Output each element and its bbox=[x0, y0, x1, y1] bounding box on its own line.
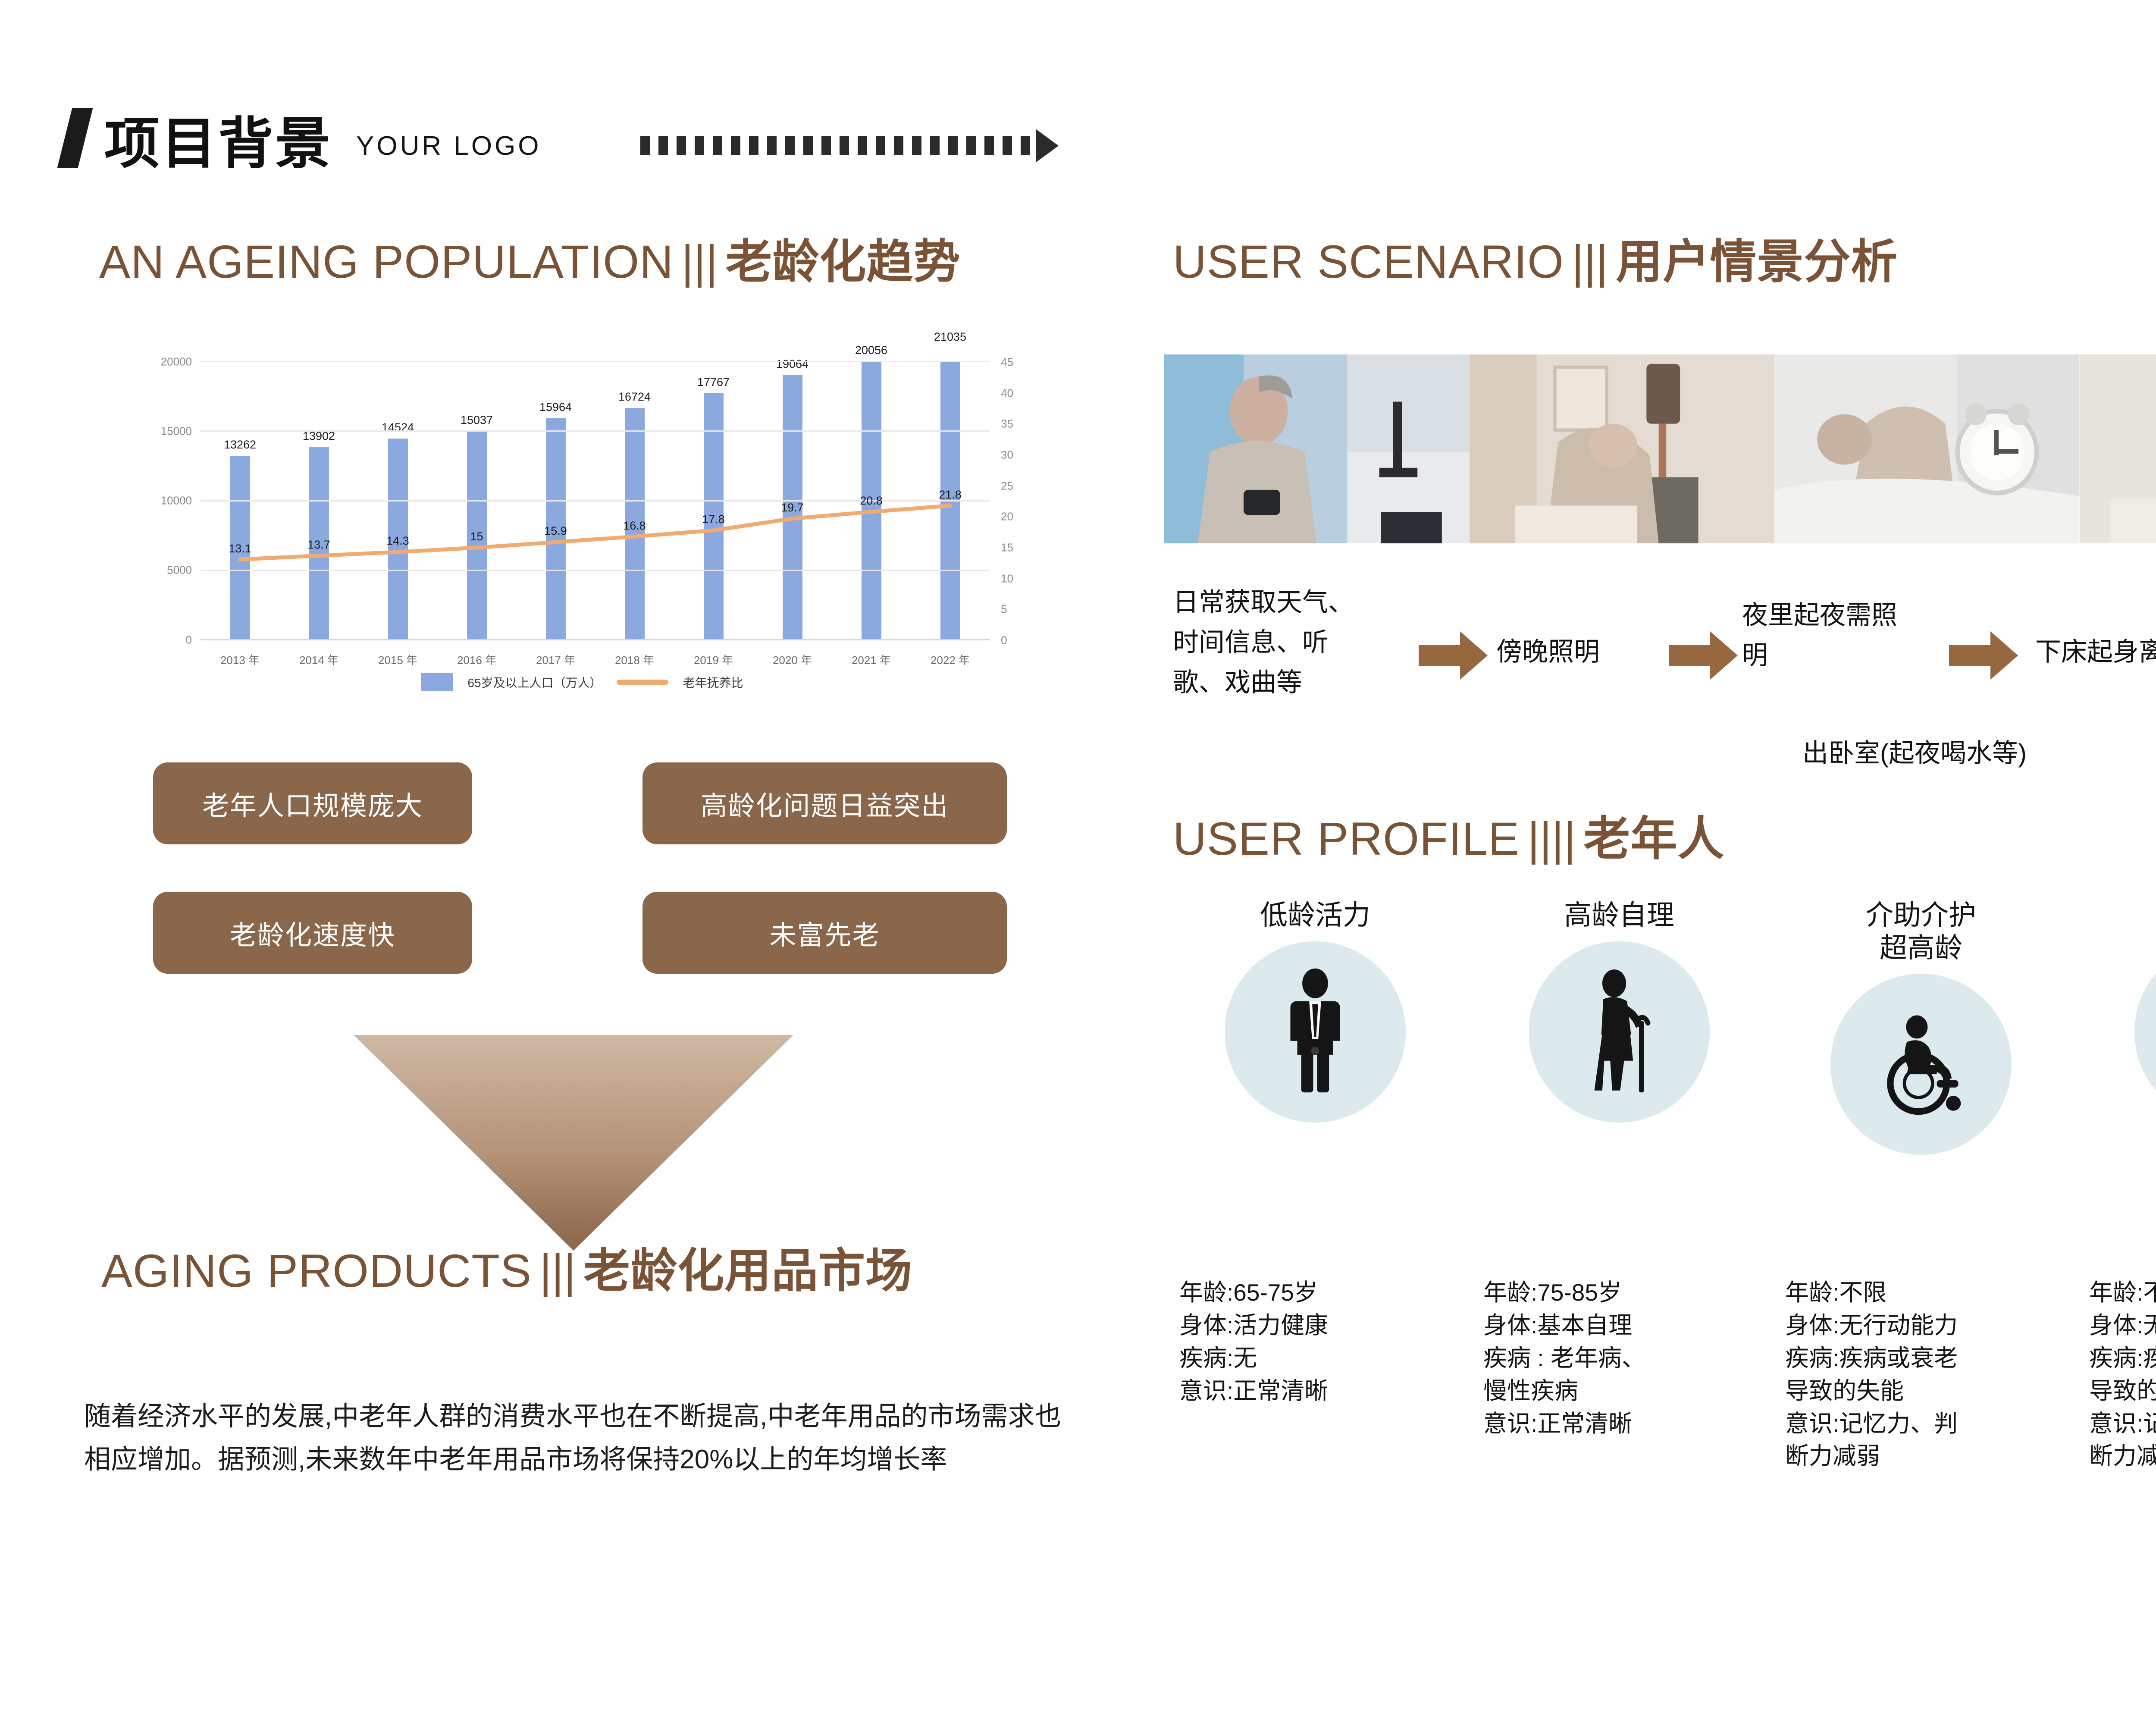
wheelchair-icon bbox=[1867, 1010, 1975, 1118]
photo-elderly-man-sitting-on-bed bbox=[2080, 354, 2156, 543]
pill-advanced-aging-problem[interactable]: 高龄化问题日益突出 bbox=[642, 762, 1007, 844]
man-with-cane-icon bbox=[1570, 967, 1669, 1097]
slide-root: 项目背景 YOUR LOGO AN AGEING POPULATION|||老龄… bbox=[0, 0, 2156, 1712]
page-title: 项目背景 bbox=[104, 116, 332, 172]
chart-line-value: 17.8 bbox=[702, 513, 725, 526]
section-title-profile-cn: 老年人 bbox=[1583, 812, 1724, 865]
chart-xtick: 2022 年 bbox=[931, 652, 970, 668]
chart-xtick: 2014 年 bbox=[299, 652, 338, 668]
chart-line-value: 13.1 bbox=[229, 542, 251, 555]
chart-line-value: 19.7 bbox=[781, 501, 804, 514]
chart-line-value: 16.8 bbox=[623, 519, 646, 533]
profile-details-low-age-vitality: 年龄:65-75岁 身体:活力健康 疾病:无 意识:正常清晰 bbox=[1179, 1276, 1455, 1408]
profile-card-disabled-elderly: 失能老人 bbox=[2074, 899, 2156, 1123]
section-divider-bars: ||| bbox=[1564, 235, 1616, 288]
profile-details-assisted-care: 年龄:不限 身体:无行动能力 疾病:疾病或衰老 导致的失能 意识:记忆力、判 断… bbox=[1785, 1276, 2061, 1473]
profile-details-high-age-self-care: 年龄:75-85岁 身体:基本自理 疾病 : 老年病、 慢性疾病 意识:正常清晰 bbox=[1483, 1276, 1759, 1440]
photo-elderly-man-with-phone bbox=[1164, 354, 1470, 543]
scenario-photo-strip bbox=[1164, 354, 2156, 543]
market-description-paragraph: 随着经济水平的发展,中老年人群的消费水平也在不断提高,中老年用品的市场需求也相应… bbox=[84, 1395, 1078, 1482]
chart-plot-area: 132622013 年139022014 年145242015 年1503720… bbox=[201, 362, 990, 640]
chart-line-value: 14.3 bbox=[386, 534, 409, 548]
photo-bedside-lamp bbox=[1470, 354, 1775, 543]
chart-gridline: 5000 bbox=[201, 570, 990, 571]
chart-ytick-right: 45 bbox=[1001, 356, 1013, 369]
chart-xtick: 2017 年 bbox=[536, 652, 575, 668]
chart-ytick-right: 25 bbox=[1001, 479, 1013, 492]
standing-man-icon bbox=[1266, 967, 1365, 1097]
chart-line-value: 15 bbox=[470, 530, 483, 543]
chart-gridline: 20000 bbox=[201, 361, 990, 362]
chart-ytick-left: 5000 bbox=[167, 564, 192, 577]
chart-ytick-left: 10000 bbox=[161, 494, 192, 508]
chart-ytick-right: 35 bbox=[1001, 417, 1013, 431]
chart-xtick: 2016 年 bbox=[457, 652, 496, 668]
section-divider-bars: ||| bbox=[674, 235, 725, 288]
profile-avatar-circle bbox=[2134, 941, 2156, 1123]
chart-line-value: 13.7 bbox=[307, 538, 330, 552]
chart-xtick: 2019 年 bbox=[694, 652, 733, 668]
pill-elderly-population-scale[interactable]: 老年人口规模庞大 bbox=[153, 762, 472, 844]
flow-step-2-label: 傍晚照明 bbox=[1496, 632, 1677, 672]
pill-label: 未富先老 bbox=[769, 913, 880, 952]
profile-avatar-circle bbox=[1830, 974, 2012, 1155]
profile-avatar-circle bbox=[1529, 941, 1710, 1123]
arrow-head-icon bbox=[1036, 129, 1059, 162]
flow-step-1-label: 日常获取天气、 时间信息、听 歌、戏曲等 bbox=[1173, 582, 1432, 702]
chart-legend: 65岁及以上人口（万人） 老年抚养比 bbox=[93, 673, 1072, 691]
pill-label: 高龄化问题日益突出 bbox=[700, 784, 949, 823]
photo-alarm-clock-in-bed bbox=[1774, 354, 2080, 543]
chart-ytick-right: 10 bbox=[1001, 572, 1013, 585]
section-divider-bars: ||| bbox=[532, 1245, 583, 1297]
legend-swatch-bar bbox=[421, 673, 453, 691]
section-title-ageing: AN AGEING POPULATION|||老龄化趋势 bbox=[99, 224, 960, 292]
profile-title: 低龄活力 bbox=[1164, 899, 1466, 932]
chart-bar-value: 20056 bbox=[855, 344, 887, 357]
chart-xtick: 2020 年 bbox=[773, 652, 812, 668]
section-title-profile: USER PROFILE||||老年人 bbox=[1173, 801, 1724, 869]
chart-ytick-right: 40 bbox=[1001, 386, 1013, 400]
chart-xtick: 2013 年 bbox=[220, 652, 260, 668]
chart-ytick-left: 20000 bbox=[161, 355, 192, 368]
chart-xtick: 2018 年 bbox=[615, 652, 654, 668]
flow-arrow-3-icon bbox=[1949, 630, 2018, 681]
page-header: 项目背景 YOUR LOGO bbox=[65, 108, 542, 168]
profile-card-high-age-self-care: 高龄自理 bbox=[1468, 899, 1770, 1123]
chart-gridline: 0 bbox=[201, 639, 990, 640]
chart-ytick-left: 0 bbox=[186, 633, 192, 646]
chart-line-value: 15.9 bbox=[544, 524, 567, 538]
chart-gridline: 15000 bbox=[201, 430, 990, 432]
chart-ytick-right: 5 bbox=[1001, 603, 1007, 616]
legend-swatch-line bbox=[617, 680, 668, 685]
profile-details-disabled-elderly: 年龄:不限 身体:无行动能力 疾病:疾病或衰老 导致的失能 意识:记忆力、判 断… bbox=[2089, 1276, 2156, 1473]
section-title-scenario-en: USER SCENARIO bbox=[1173, 235, 1564, 288]
dashed-arrow-decoration bbox=[640, 129, 1059, 162]
section-title-products-en: AGING PRODUCTS bbox=[101, 1245, 532, 1297]
profile-title: 高龄自理 bbox=[1468, 899, 1770, 932]
pill-label: 老年人口规模庞大 bbox=[202, 784, 423, 823]
section-title-scenario-cn: 用户情景分析 bbox=[1616, 235, 1898, 288]
logo-placeholder: YOUR LOGO bbox=[356, 131, 542, 161]
flow-step-4-label: 下床起身离床 bbox=[2035, 632, 2156, 672]
legend-label-line: 老年抚养比 bbox=[683, 674, 743, 691]
section-title-products-cn: 老龄化用品市场 bbox=[583, 1245, 912, 1297]
downward-arrow-graphic bbox=[354, 1035, 793, 1251]
chart-bar-value: 21035 bbox=[934, 330, 966, 344]
legend-label-bar: 65岁及以上人口（万人） bbox=[467, 674, 602, 691]
chart-line-value: 21.8 bbox=[939, 488, 962, 502]
chart-ytick-right: 0 bbox=[1001, 634, 1007, 647]
section-title-profile-en: USER PROFILE bbox=[1173, 812, 1520, 865]
profile-card-low-age-vitality: 低龄活力 bbox=[1164, 899, 1466, 1123]
chart-ytick-right: 20 bbox=[1001, 510, 1013, 524]
profile-title: 失能老人 bbox=[2074, 899, 2156, 932]
pill-old-before-rich[interactable]: 未富先老 bbox=[642, 892, 1007, 974]
flow-arrow-2-icon bbox=[1669, 630, 1738, 681]
chart-ytick-left: 15000 bbox=[161, 424, 192, 438]
profile-title: 介助介护 超高龄 bbox=[1770, 899, 2072, 964]
chart-xtick: 2021 年 bbox=[852, 652, 891, 668]
flow-arrow-1-icon bbox=[1419, 630, 1488, 681]
profile-avatar-circle bbox=[1225, 941, 1406, 1123]
profile-card-assisted-care: 介助介护 超高龄 bbox=[1770, 899, 2072, 1155]
chart-ytick-right: 15 bbox=[1001, 541, 1013, 555]
pill-aging-speed[interactable]: 老龄化速度快 bbox=[153, 892, 472, 974]
section-title-products: AGING PRODUCTS|||老龄化用品市场 bbox=[101, 1233, 912, 1301]
slash-accent-icon bbox=[57, 108, 93, 168]
section-title-ageing-cn: 老龄化趋势 bbox=[725, 235, 960, 288]
section-title-ageing-en: AN AGEING POPULATION bbox=[99, 235, 674, 288]
section-divider-bars: |||| bbox=[1520, 812, 1583, 865]
section-title-scenario: USER SCENARIO|||用户情景分析 bbox=[1173, 224, 1898, 292]
ageing-population-chart: 132622013 年139022014 年145242015 年1503720… bbox=[93, 347, 1072, 688]
pill-label: 老龄化速度快 bbox=[230, 913, 395, 952]
chart-xtick: 2015 年 bbox=[378, 652, 417, 668]
chart-ytick-right: 30 bbox=[1001, 448, 1013, 462]
flow-step-5-label: 出卧室(起夜喝水等) bbox=[1802, 733, 2147, 773]
flow-step-3-label: 夜里起夜需照 明 bbox=[1742, 595, 1966, 675]
chart-line-value: 20.8 bbox=[860, 494, 883, 508]
